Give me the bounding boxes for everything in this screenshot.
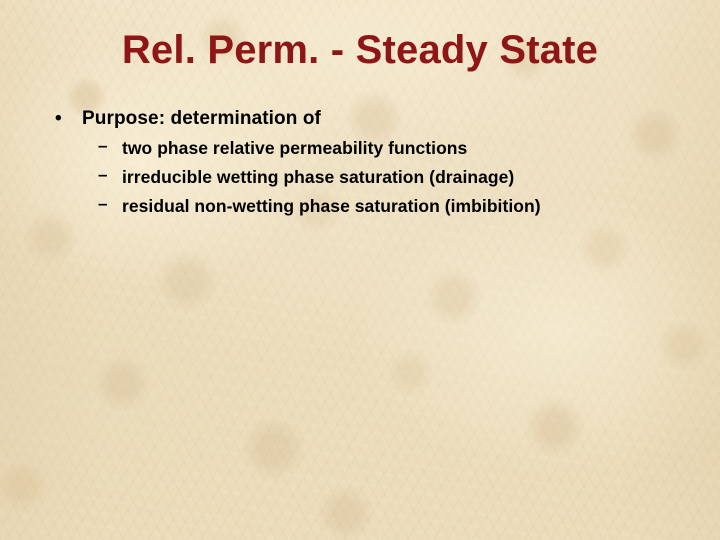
- bullet-item-purpose: • Purpose: determination of: [0, 106, 720, 132]
- slide-title-block: Rel. Perm. - Steady State: [0, 26, 720, 74]
- bullet-item-irreducible-wetting: – irreducible wetting phase saturation (…: [0, 163, 720, 191]
- bullet-text-two-phase-functions: two phase relative permeability function…: [122, 134, 467, 162]
- bullet-item-residual-non-wetting: – residual non-wetting phase saturation …: [0, 192, 720, 220]
- bullet-text-residual-non-wetting: residual non-wetting phase saturation (i…: [122, 192, 541, 220]
- presentation-slide: Rel. Perm. - Steady State • Purpose: det…: [0, 0, 720, 540]
- bullet-dash-icon: –: [98, 192, 122, 216]
- bullet-dot-icon: •: [55, 106, 82, 132]
- page-title: Rel. Perm. - Steady State: [0, 26, 720, 74]
- bullet-dash-icon: –: [98, 134, 122, 158]
- bullet-item-two-phase-functions: – two phase relative permeability functi…: [0, 134, 720, 162]
- slide-body: • Purpose: determination of – two phase …: [0, 106, 720, 221]
- slide-content: Rel. Perm. - Steady State • Purpose: det…: [0, 0, 720, 540]
- bullet-text-irreducible-wetting: irreducible wetting phase saturation (dr…: [122, 163, 514, 191]
- bullet-text-purpose: Purpose: determination of: [82, 106, 321, 132]
- bullet-dash-icon: –: [98, 163, 122, 187]
